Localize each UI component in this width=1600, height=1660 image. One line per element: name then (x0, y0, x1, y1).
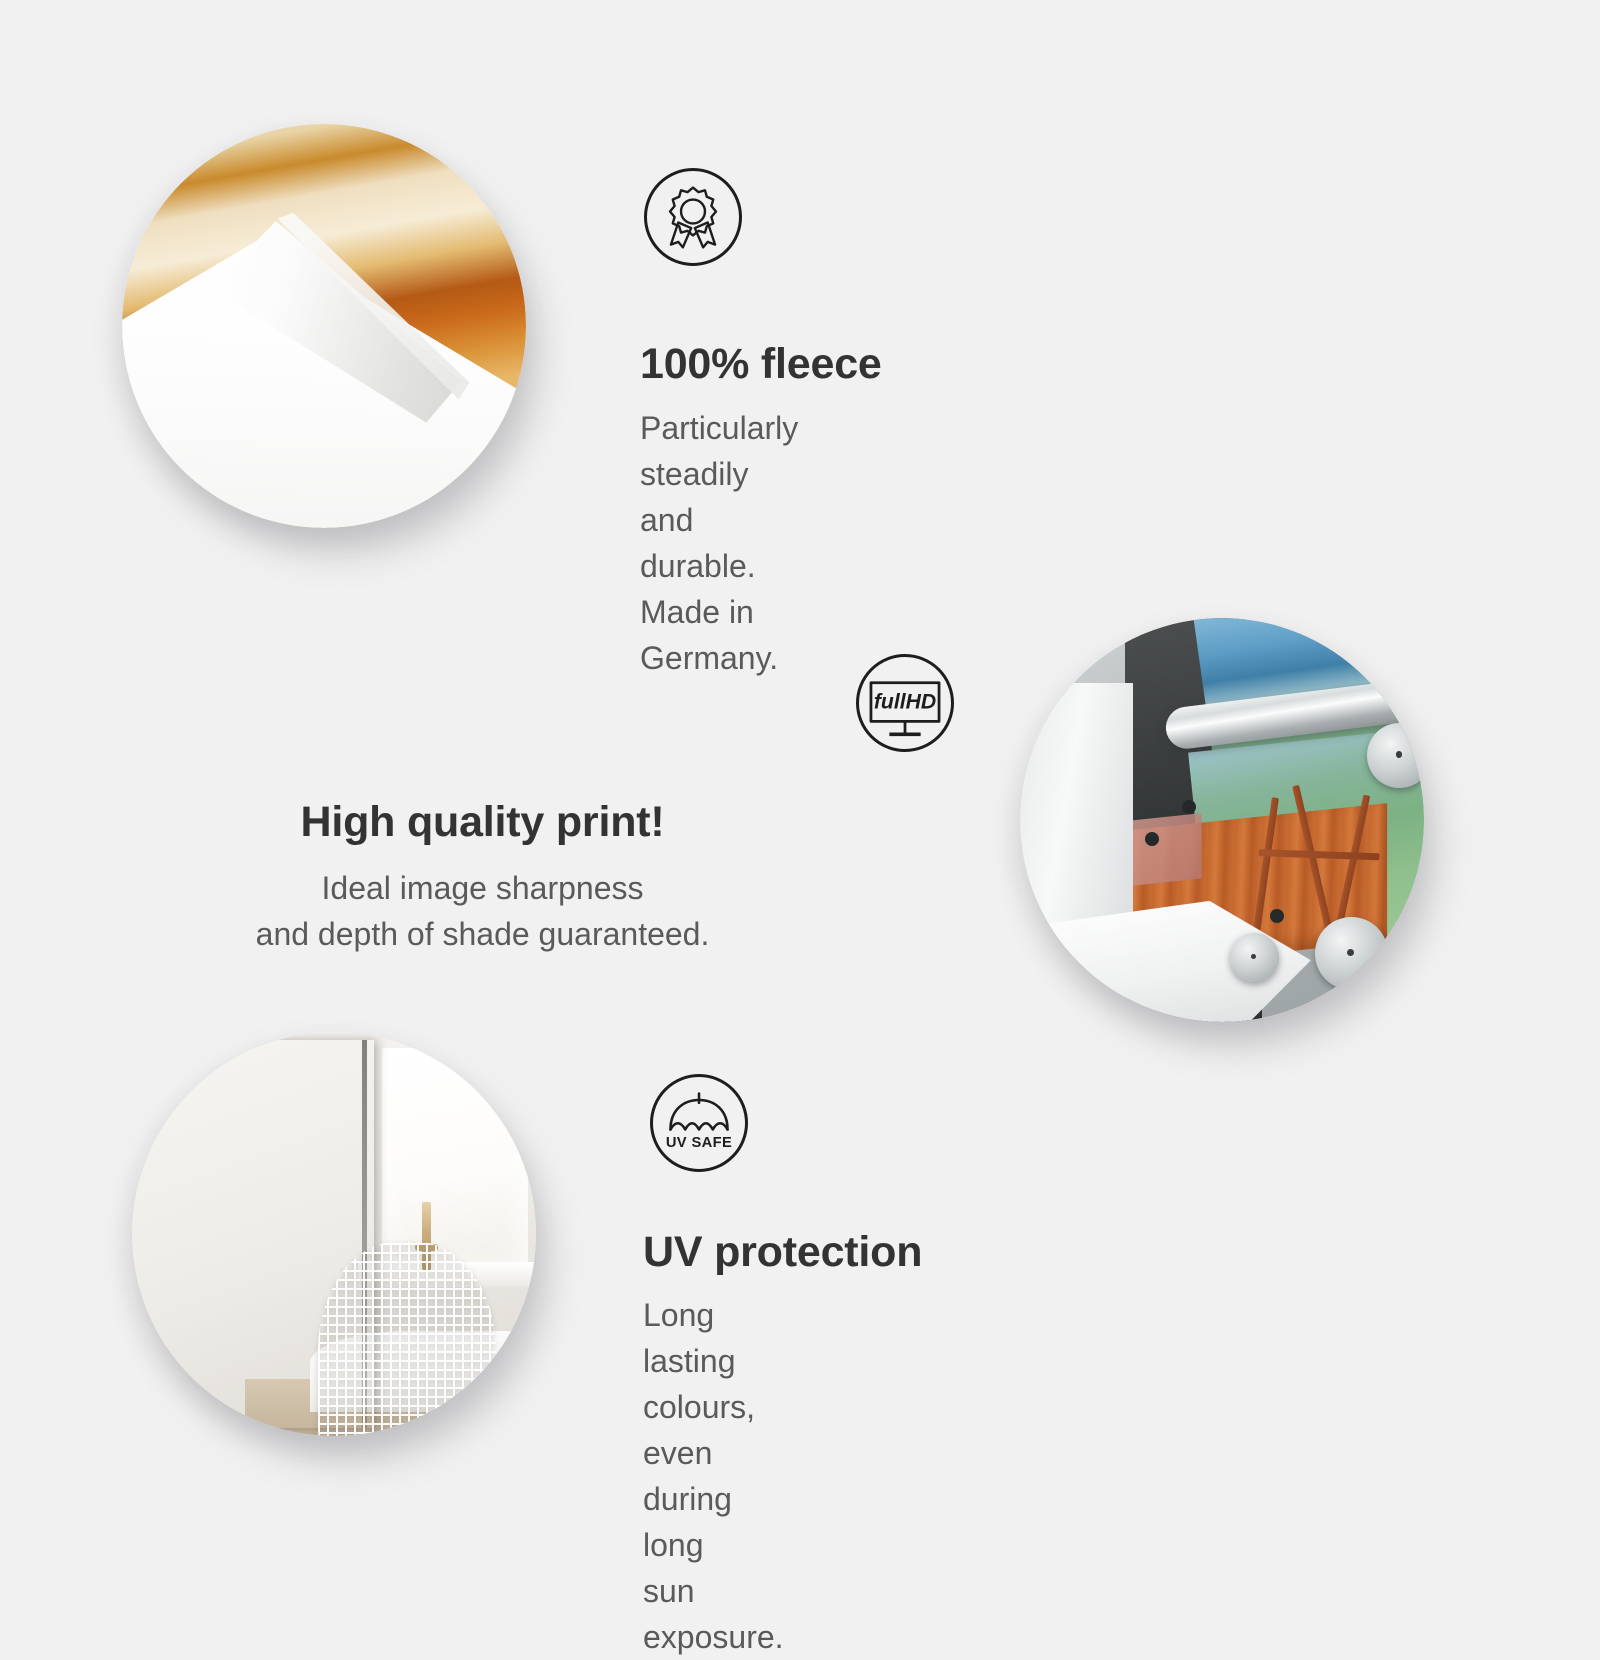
uv-safe-label: UV SAFE (666, 1135, 732, 1151)
mandala-wallpaper-room-photo (132, 1032, 536, 1436)
printer-roller-knob (1367, 723, 1424, 788)
fleece-wallpaper-peeled-corner-photo (122, 124, 526, 528)
white-wire-chair (318, 1242, 496, 1436)
feature-title: UV protection (643, 1228, 922, 1277)
uv-safe-umbrella-icon: UV SAFE (650, 1074, 748, 1172)
feature-description: Ideal image sharpness and depth of shade… (0, 865, 965, 957)
printer-bolt (1182, 800, 1196, 814)
printer-roller-knob (1315, 917, 1388, 990)
room-window (382, 1048, 527, 1274)
large-format-printer-photo (1020, 618, 1424, 1022)
feature-title: High quality print! (0, 798, 965, 847)
feature-description: Long lasting colours, even during long s… (643, 1292, 784, 1660)
feature-description: Particularly steadily and durable. Made … (640, 405, 798, 681)
feature-infographic: 100% fleece Particularly steadily and du… (0, 0, 1600, 1600)
printer-roller-knob (1230, 933, 1278, 981)
fullhd-monitor-icon: fullHD (856, 654, 954, 752)
award-ribbon-icon (644, 168, 742, 266)
fullhd-label: fullHD (874, 691, 936, 714)
feature-title: 100% fleece (640, 340, 882, 389)
